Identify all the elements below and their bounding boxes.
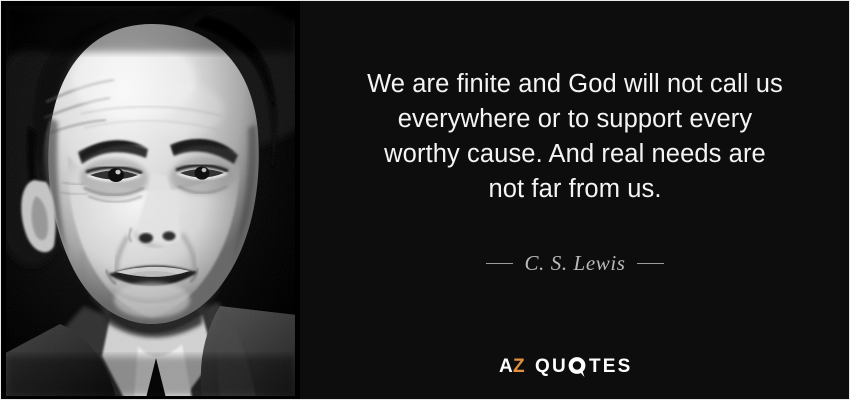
quote-attribution: C. S. Lewis: [301, 249, 849, 276]
az-quotes-logo-mark: A Z QU TES: [499, 354, 651, 378]
portrait-panel: [1, 1, 300, 399]
az-quotes-logo[interactable]: A Z QU TES: [301, 353, 849, 379]
attribution-dash-left: [486, 263, 513, 264]
logo-letter-a: A: [499, 356, 513, 377]
attribution-dash-right: [637, 263, 664, 264]
logo-letter-z: Z: [513, 356, 525, 377]
quote-text: We are finite and God will not call us e…: [329, 67, 821, 207]
portrait-frame: [6, 6, 295, 396]
portrait-of-c-s-lewis: [6, 6, 295, 396]
logo-letters-tes: TES: [589, 356, 633, 377]
quote-panel: We are finite and God will not call us e…: [301, 1, 849, 399]
logo-speech-bubble-o: [569, 357, 586, 377]
logo-letters-qu: QU: [535, 356, 568, 377]
attribution-author-name: C. S. Lewis: [524, 251, 625, 276]
quote-card: We are finite and God will not call us e…: [0, 0, 850, 400]
